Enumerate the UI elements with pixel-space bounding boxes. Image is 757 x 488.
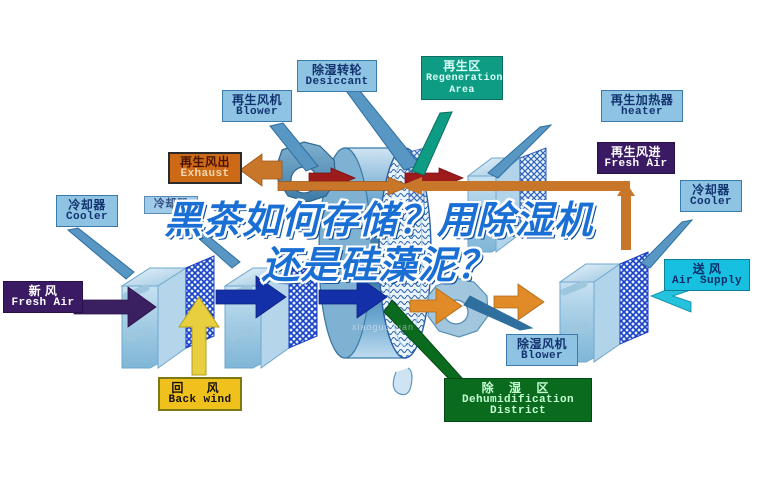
- label-dehum-district-en2: District: [449, 406, 587, 418]
- label-regen-fresh-air-en: Fresh Air: [602, 159, 670, 171]
- label-regeneration-area[interactable]: 再生区 Regeneration Area: [421, 56, 503, 100]
- label-dehum-blower-en: Blower: [511, 351, 573, 363]
- label-dehum-blower-cn: 除湿风机: [511, 338, 573, 351]
- label-fresh-air[interactable]: 新 风 Fresh Air: [3, 281, 83, 313]
- label-cooler-mid[interactable]: 冷却器: [144, 196, 198, 214]
- label-regen-heater[interactable]: 再生加热器 heater: [601, 90, 683, 122]
- label-cooler-mid-cn: 冷却器: [148, 199, 194, 211]
- label-cooler-left[interactable]: 冷却器 Cooler: [56, 195, 118, 227]
- label-cooler-right-en: Cooler: [685, 197, 737, 209]
- label-back-wind[interactable]: 回 风 Back wind: [158, 377, 242, 411]
- dehumidifier-schematic-svg: [0, 0, 757, 488]
- label-regen-fresh-air-cn: 再生风进: [602, 146, 670, 159]
- label-air-supply[interactable]: 送 风 Air Supply: [664, 259, 750, 291]
- label-dehum-blower[interactable]: 除湿风机 Blower: [506, 334, 578, 366]
- label-back-wind-en: Back wind: [164, 395, 236, 407]
- cooler-unit-left-2: [225, 256, 317, 368]
- label-regen-blower-cn: 再生风机: [227, 94, 287, 107]
- label-air-supply-en: Air Supply: [669, 276, 745, 288]
- label-cooler-right-cn: 冷却器: [685, 184, 737, 197]
- diagram-canvas: 除湿转轮 Desiccant 再生风机 Blower 再生风出 Exhaust …: [0, 0, 757, 488]
- label-cooler-right[interactable]: 冷却器 Cooler: [680, 180, 742, 212]
- label-cooler-left-en: Cooler: [61, 212, 113, 224]
- label-exhaust-en: Exhaust: [174, 169, 236, 181]
- label-desiccant-rotor-cn: 除湿转轮: [302, 64, 372, 77]
- label-back-wind-cn: 回 风: [164, 382, 236, 395]
- label-regeneration-area-cn: 再生区: [426, 60, 498, 73]
- regen-blower-fan: [278, 142, 336, 202]
- label-regeneration-area-en: Regeneration Area: [426, 73, 498, 95]
- label-fresh-air-cn: 新 风: [8, 285, 78, 298]
- label-air-supply-cn: 送 风: [669, 263, 745, 276]
- label-exhaust[interactable]: 再生风出 Exhaust: [168, 152, 242, 184]
- label-cooler-left-cn: 冷却器: [61, 199, 113, 212]
- label-exhaust-cn: 再生风出: [174, 156, 236, 169]
- watermark: xiaoguoyuan: [352, 322, 414, 332]
- label-regen-fresh-air[interactable]: 再生风进 Fresh Air: [597, 142, 675, 174]
- arrow-exhaust-flow: [240, 154, 282, 186]
- label-desiccant-rotor-en: Desiccant: [302, 77, 372, 89]
- label-fresh-air-en: Fresh Air: [8, 298, 78, 310]
- label-dehum-district-cn: 除 湿 区: [449, 382, 587, 395]
- label-dehum-district[interactable]: 除 湿 区 Dehumidification District: [444, 378, 592, 422]
- label-desiccant-rotor[interactable]: 除湿转轮 Desiccant: [297, 60, 377, 92]
- label-regen-heater-cn: 再生加热器: [606, 94, 678, 107]
- label-regen-blower[interactable]: 再生风机 Blower: [222, 90, 292, 122]
- label-regen-heater-en: heater: [606, 107, 678, 119]
- label-regen-blower-en: Blower: [227, 107, 287, 119]
